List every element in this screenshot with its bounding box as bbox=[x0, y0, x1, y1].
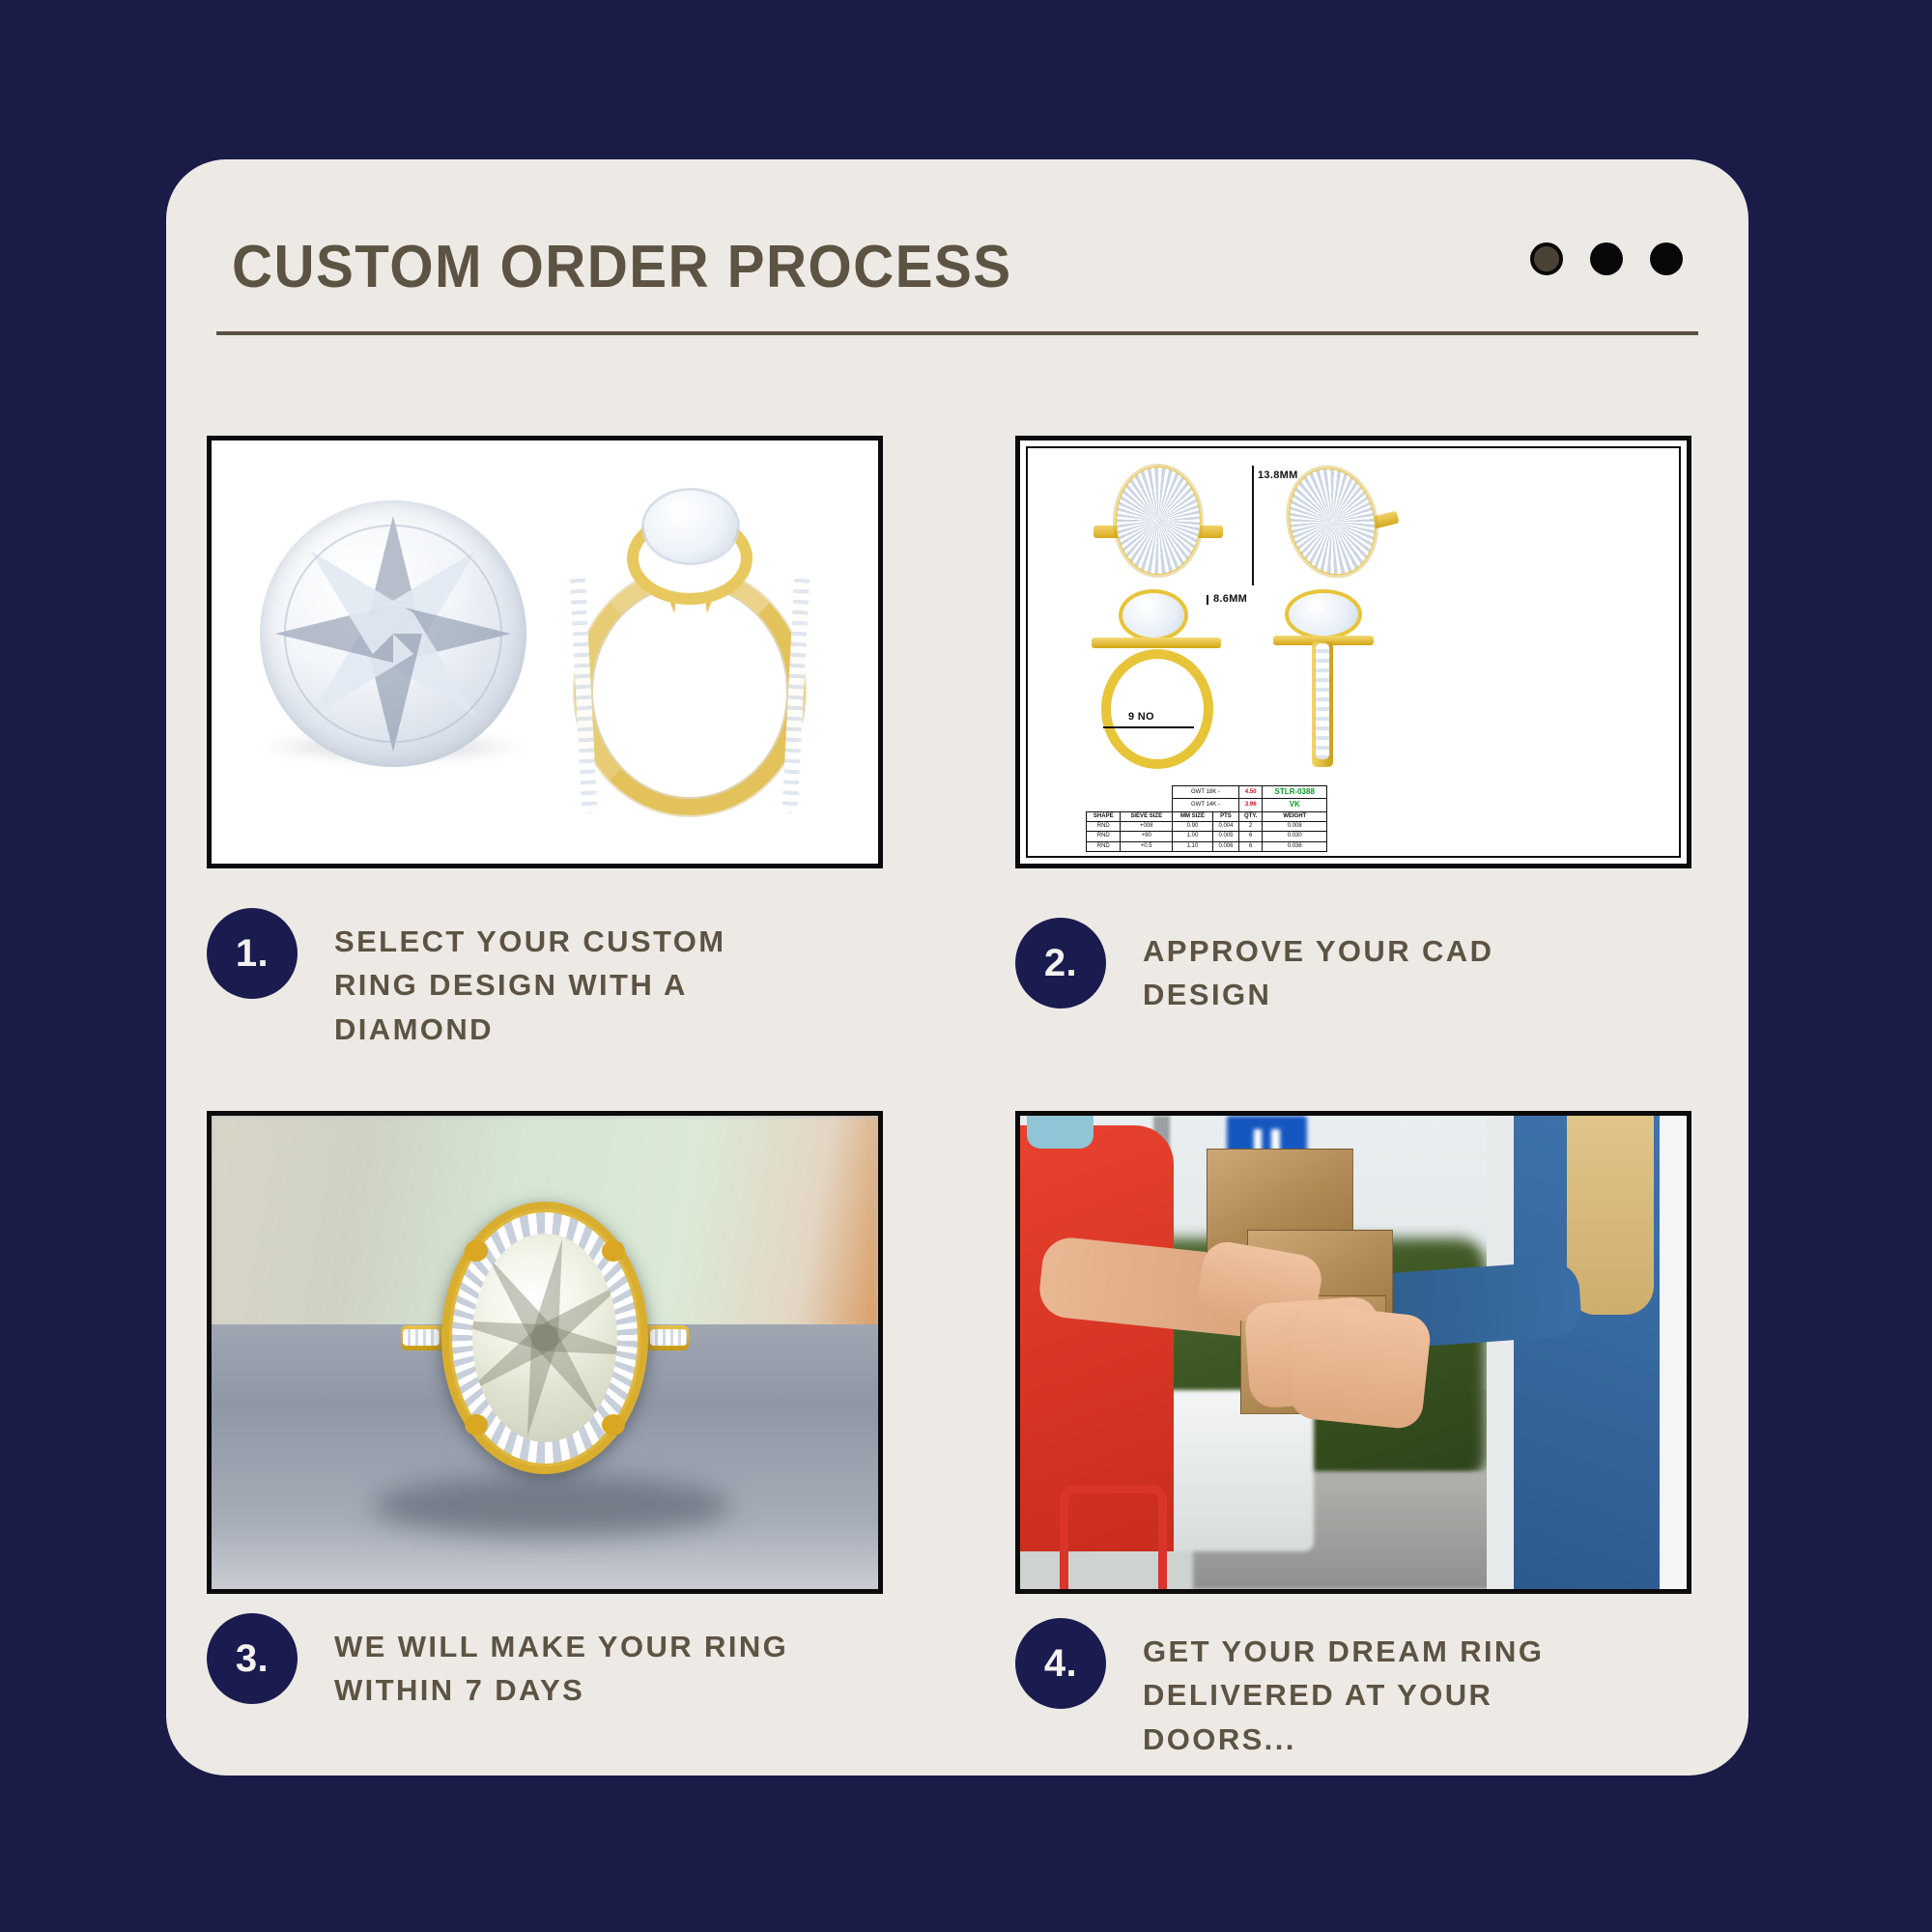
spec-style-code: STLR-0388 bbox=[1263, 786, 1327, 799]
cad-height-dim-label: 13.8MM bbox=[1258, 469, 1298, 481]
spec-cell: 0.036 bbox=[1263, 841, 1327, 851]
step-1-image[interactable] bbox=[207, 436, 883, 868]
cad-view-angle bbox=[1256, 442, 1409, 599]
step-4-caption: 4. GET YOUR DREAM RING DELIVERED AT YOUR… bbox=[1015, 1618, 1749, 1761]
spec-th-weight: WEIGHT bbox=[1263, 811, 1327, 821]
ring-center-stone bbox=[644, 491, 737, 562]
spec-cell: RND bbox=[1087, 841, 1121, 851]
step-3-text: WE WILL MAKE YOUR RING WITHIN 7 DAYS bbox=[334, 1625, 817, 1713]
spec-gwt14k-label: GWT 14K - bbox=[1172, 799, 1238, 811]
cad-view-top bbox=[1095, 458, 1221, 583]
spec-th-sieve: SIEVE SIZE bbox=[1121, 811, 1173, 821]
spec-cell: 0.006 bbox=[1212, 841, 1238, 851]
spec-cell: 6 bbox=[1238, 841, 1263, 851]
cad-side-pave bbox=[1316, 643, 1329, 759]
spec-cell: +90 bbox=[1121, 832, 1173, 841]
spec-gwt-14k-row: GWT 14K - 3.96 VK bbox=[1087, 799, 1327, 811]
spec-row: RND +008 0.90 0.004 2 0.008 bbox=[1087, 822, 1327, 832]
finished-ring-photo bbox=[212, 1116, 878, 1589]
delivery-photo bbox=[1020, 1116, 1687, 1589]
step-4-badge: 4. bbox=[1015, 1618, 1106, 1709]
spec-gwt18k-label: GWT 18K - bbox=[1172, 786, 1238, 799]
cad-profile-bar bbox=[1092, 638, 1221, 648]
cad-view-side bbox=[1277, 593, 1383, 772]
step-1-caption: 1. SELECT YOUR CUSTOM RING DESIGN WITH A… bbox=[207, 908, 941, 1051]
photo-prong-tl bbox=[465, 1240, 488, 1262]
step-2-text: APPROVE YOUR CAD DESIGN bbox=[1143, 929, 1587, 1017]
spec-th-pts: PTS bbox=[1212, 811, 1238, 821]
spec-cell: RND bbox=[1087, 822, 1121, 832]
photo-customer-hand-b bbox=[1288, 1303, 1433, 1430]
spec-cell: 2 bbox=[1238, 822, 1263, 832]
steps-grid: 13.8MM 8.6MM 9 NO GWT 18K - 4.50 bbox=[166, 159, 1748, 1776]
cad-halo-stone bbox=[1116, 467, 1201, 575]
spec-spacer-a bbox=[1087, 786, 1121, 799]
photo-center-stone bbox=[472, 1234, 617, 1442]
spec-th-qty: QTY. bbox=[1238, 811, 1263, 821]
spec-th-shape: SHAPE bbox=[1087, 811, 1121, 821]
cad-width-dim-line bbox=[1207, 595, 1208, 605]
cad-side-stone bbox=[1285, 589, 1362, 639]
spec-cell: 1.00 bbox=[1172, 832, 1212, 841]
loose-diamond-icon bbox=[260, 500, 526, 767]
step-2-caption: 2. APPROVE YOUR CAD DESIGN bbox=[1015, 918, 1749, 1017]
step-1-badge: 1. bbox=[207, 908, 298, 999]
cad-profile-stone bbox=[1119, 589, 1188, 641]
spec-row: RND +90 1.00 0.005 6 0.030 bbox=[1087, 832, 1327, 841]
photo-customer-hair bbox=[1567, 1116, 1654, 1315]
cad-width-dim-label: 8.6MM bbox=[1213, 593, 1247, 605]
step-3-caption: 3. WE WILL MAKE YOUR RING WITHIN 7 DAYS bbox=[207, 1613, 960, 1713]
cad-profile-shank bbox=[1101, 649, 1213, 769]
spec-cell: 0.008 bbox=[1263, 822, 1327, 832]
step-2-image[interactable]: 13.8MM 8.6MM 9 NO GWT 18K - 4.50 bbox=[1015, 436, 1691, 868]
poster-root: CUSTOM ORDER PROCESS bbox=[0, 0, 1932, 1932]
cad-sheet-border: 13.8MM 8.6MM 9 NO GWT 18K - 4.50 bbox=[1026, 446, 1681, 858]
spec-cell: +008 bbox=[1121, 822, 1173, 832]
spec-cell: 1.10 bbox=[1172, 841, 1212, 851]
photo-band-left bbox=[401, 1325, 441, 1350]
spec-spacer-d bbox=[1121, 799, 1173, 811]
cad-height-dim-line bbox=[1252, 466, 1254, 585]
step-1-text: SELECT YOUR CUSTOM RING DESIGN WITH A DI… bbox=[334, 920, 779, 1051]
spec-cell: 0.030 bbox=[1263, 832, 1327, 841]
step-3-image[interactable] bbox=[207, 1111, 883, 1594]
step-2-badge: 2. bbox=[1015, 918, 1106, 1009]
photo-ring bbox=[424, 1184, 666, 1492]
spec-cell: RND bbox=[1087, 832, 1121, 841]
gold-halo-ring-icon bbox=[530, 479, 849, 827]
photo-prong-bl bbox=[465, 1414, 488, 1435]
spec-cell: 0.90 bbox=[1172, 822, 1212, 832]
cad-ring-size-label: 9 NO bbox=[1128, 711, 1154, 723]
spec-cell: 0.005 bbox=[1212, 832, 1238, 841]
face-mask-icon bbox=[1027, 1116, 1094, 1149]
step-3-badge: 3. bbox=[207, 1613, 298, 1704]
cad-spec-table: GWT 18K - 4.50 STLR-0388 GWT 14K - 3.96 … bbox=[1086, 785, 1327, 852]
photo-hand-trolley bbox=[1060, 1485, 1166, 1589]
spec-cell: +0.5 bbox=[1121, 841, 1173, 851]
step-4-text: GET YOUR DREAM RING DELIVERED AT YOUR DO… bbox=[1143, 1630, 1587, 1761]
cad-size-dim-line bbox=[1103, 726, 1194, 728]
spec-style-initials: VK bbox=[1263, 799, 1327, 811]
cad-sheet: 13.8MM 8.6MM 9 NO GWT 18K - 4.50 bbox=[1020, 440, 1687, 864]
content-card: CUSTOM ORDER PROCESS bbox=[166, 159, 1748, 1776]
spec-spacer-b bbox=[1121, 786, 1173, 799]
spec-row: RND +0.5 1.10 0.006 6 0.036 bbox=[1087, 841, 1327, 851]
spec-gwt14k-value: 3.96 bbox=[1238, 799, 1263, 811]
photo-prong-tr bbox=[602, 1240, 625, 1262]
spec-gwt18k-value: 4.50 bbox=[1238, 786, 1263, 799]
photo-prong-br bbox=[602, 1414, 625, 1435]
spec-header-row: SHAPE SIEVE SIZE MM SIZE PTS QTY. WEIGHT bbox=[1087, 811, 1327, 821]
spec-gwt-18k-row: GWT 18K - 4.50 STLR-0388 bbox=[1087, 786, 1327, 799]
spec-cell: 0.004 bbox=[1212, 822, 1238, 832]
spec-cell: 6 bbox=[1238, 832, 1263, 841]
photo-band-right bbox=[648, 1325, 689, 1350]
cad-view-profile bbox=[1088, 593, 1228, 772]
spec-spacer-c bbox=[1087, 799, 1121, 811]
spec-th-mm: MM SIZE bbox=[1172, 811, 1212, 821]
step-4-image[interactable] bbox=[1015, 1111, 1691, 1594]
